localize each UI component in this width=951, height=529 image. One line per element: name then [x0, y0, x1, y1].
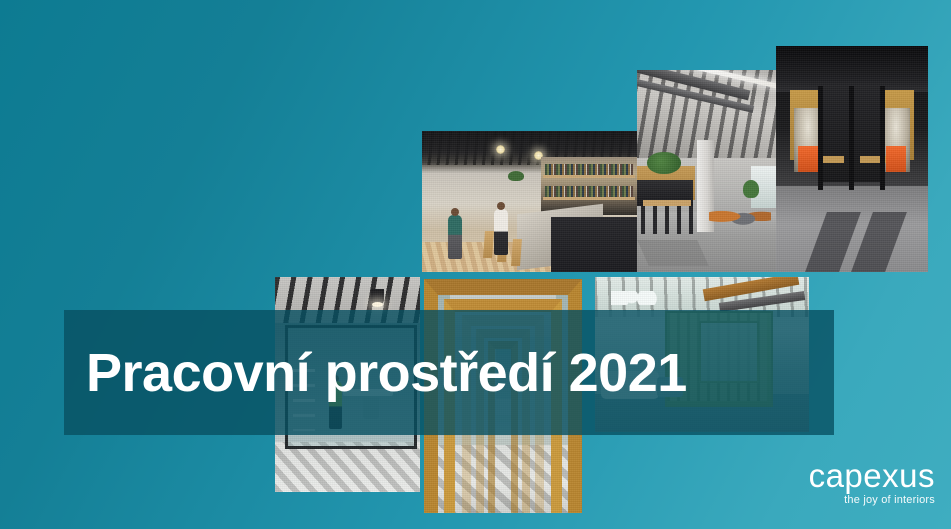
container-room-pendant-lamps — [611, 291, 657, 305]
booth-orange-seat — [886, 146, 906, 172]
cafe-bar-shelf — [543, 175, 635, 178]
logo-wordmark: capexus — [809, 459, 935, 493]
open-office-lounge-seating — [709, 202, 771, 226]
office-cafe-bar-photo — [422, 131, 637, 272]
cafe-bottles — [545, 164, 633, 175]
open-office-plant — [647, 152, 681, 174]
cafe-bottles — [545, 186, 633, 197]
cafe-plant — [508, 171, 524, 181]
cafe-bar-shelf — [543, 197, 635, 200]
logo-tagline: the joy of interiors — [809, 493, 935, 507]
cafe-stool — [511, 239, 522, 266]
open-office-floor-tile — [637, 240, 709, 266]
presentation-slide: Pracovní prostředí 2021 capexus the joy … — [0, 0, 951, 529]
cafe-person-walking — [448, 215, 462, 259]
booth-orange-seat — [798, 146, 818, 172]
booth-frame-mullion — [880, 86, 885, 190]
cafe-stool — [483, 231, 494, 258]
capexus-logo: capexus the joy of interiors — [809, 459, 935, 507]
cafe-person-seated — [494, 209, 508, 255]
glass-room-pendant-lamp — [371, 289, 384, 304]
booth-frame-mullion — [818, 86, 823, 190]
booth-frame-mullion — [849, 86, 854, 190]
glass-room-carpet — [275, 442, 420, 492]
meeting-booth-photo — [776, 46, 928, 272]
open-office-plant — [743, 180, 759, 198]
open-office-stools — [641, 206, 693, 234]
open-office-corridor-photo — [637, 70, 777, 272]
cafe-dark-cabinets — [551, 217, 637, 272]
page-title: Pracovní prostředí 2021 — [86, 320, 846, 426]
cafe-pendant-lamp — [496, 145, 505, 154]
